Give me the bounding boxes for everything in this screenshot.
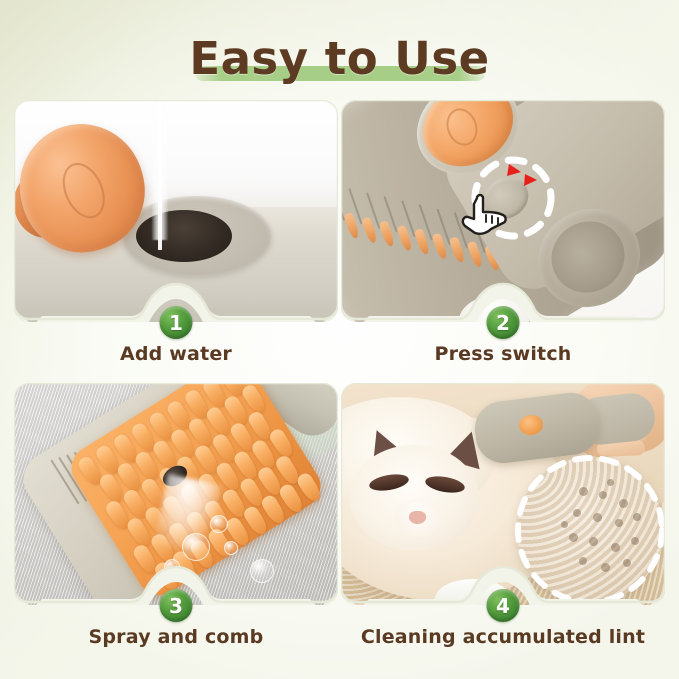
step-4-image-card xyxy=(341,383,665,605)
step-number-1: 1 xyxy=(169,313,183,333)
step-number-4: 4 xyxy=(496,596,510,616)
pointing-hand-cursor xyxy=(459,188,509,240)
step-caption-4: Cleaning accumulated lint xyxy=(341,626,665,648)
step-badge-4: 4 xyxy=(487,589,520,622)
step-caption-1: Add water xyxy=(14,343,338,365)
brush-tooth xyxy=(431,232,448,260)
step-caption-2: Press switch xyxy=(341,343,665,365)
step-2-image-card xyxy=(341,100,665,322)
brush-tooth xyxy=(466,240,483,268)
step-card-3: 3 Spray and comb xyxy=(14,383,338,605)
step-card-1: 1 Add water xyxy=(14,100,338,322)
cat-nose xyxy=(409,511,426,524)
infographic-page: Easy to Use 1 xyxy=(0,0,679,679)
brush-tooth xyxy=(379,220,396,248)
step-card-4: 4 Cleaning accumulated lint xyxy=(341,383,665,605)
brush-tooth xyxy=(341,208,343,236)
step-3-image-card xyxy=(14,383,338,605)
step-number-3: 3 xyxy=(169,596,183,616)
page-title: Easy to Use xyxy=(0,22,679,94)
step-caption-3: Spray and comb xyxy=(14,626,338,648)
brush-tooth xyxy=(414,228,431,256)
fill-port-opening xyxy=(136,210,232,262)
brush-tooth xyxy=(361,216,378,244)
step-badge-1: 1 xyxy=(160,306,193,339)
brush-tooth xyxy=(449,236,466,264)
photo-press-switch xyxy=(341,100,665,322)
inset-dashed-ring xyxy=(513,453,665,605)
step-badge-2: 2 xyxy=(487,306,520,339)
photo-add-water xyxy=(14,100,338,322)
step-card-2: 2 Press switch xyxy=(341,100,665,322)
photo-cleaning-lint xyxy=(341,383,665,605)
brush-tooth xyxy=(396,224,413,252)
brush-tooth xyxy=(343,212,360,240)
step-badge-3: 3 xyxy=(160,589,193,622)
step-number-2: 2 xyxy=(496,313,510,333)
photo-spray-and-comb xyxy=(14,383,338,605)
title-text: Easy to Use xyxy=(189,32,489,85)
step-1-image-card xyxy=(14,100,338,322)
